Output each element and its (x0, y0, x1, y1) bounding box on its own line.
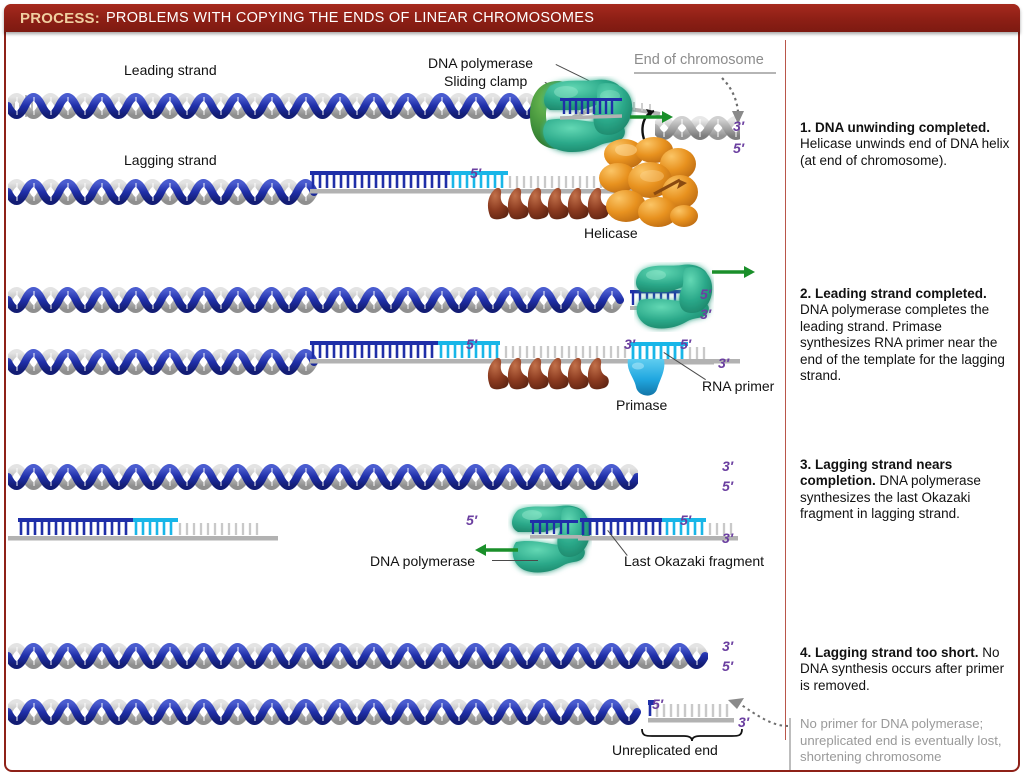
step-4-number: 4. (800, 645, 811, 660)
step2-lagging-helix (8, 340, 318, 384)
prime-s2-pol-5: 5′ (700, 286, 711, 302)
step-4-heading: Lagging strand too short. (815, 645, 979, 660)
step1-nascent-leading-duplex (560, 96, 622, 126)
label-helicase: Helicase (584, 225, 638, 241)
gray-note: No primer for DNA polymerase; unreplicat… (800, 716, 1012, 766)
label-leading-strand: Leading strand (124, 62, 217, 78)
step-1-text: 1. DNA unwinding completed. Helicase unw… (800, 120, 1015, 169)
process-figure: PROCESS: PROBLEMS WITH COPYING THE ENDS … (0, 0, 1024, 776)
step-4-text: 4. Lagging strand too short. No DNA synt… (800, 645, 1015, 694)
step-1-body: Helicase unwinds end of DNA helix (at en… (800, 136, 1009, 167)
step-2-heading: Leading strand completed. (815, 286, 987, 301)
prime-s4-bot-5: 5′ (652, 696, 663, 712)
prime-s1-top-3: 3′ (733, 118, 744, 134)
step-1-heading: DNA unwinding completed. (815, 120, 990, 135)
banner-title: PROBLEMS WITH COPYING THE ENDS OF LINEAR… (106, 10, 594, 26)
label-last-okazaki-fragment: Last Okazaki fragment (624, 553, 764, 569)
prime-s4-top-3: 3′ (722, 638, 733, 654)
leading-synthesis-arrow-1 (630, 110, 674, 129)
step-2-text: 2. Leading strand completed. DNA polymer… (800, 286, 1015, 385)
label-end-of-chromosome: End of chromosome (634, 52, 764, 68)
prime-s3-right-5: 5′ (680, 512, 691, 528)
prime-s2-primer-3: 3′ (624, 336, 635, 352)
leader-dna-polymerase-3 (492, 560, 538, 561)
prime-s1-top-5: 5′ (733, 140, 744, 156)
prime-s3-top-5: 5′ (722, 478, 733, 494)
step3-leading-helix (8, 455, 638, 499)
step2-leading-helix (8, 278, 628, 322)
prime-s3-right-3: 3′ (722, 530, 733, 546)
ssb-proteins-icon-2 (484, 352, 612, 392)
label-rna-primer: RNA primer (702, 378, 774, 394)
primase-icon (624, 357, 670, 401)
step1-leading-helix (8, 84, 538, 128)
leading-synthesis-arrow-2 (712, 265, 756, 284)
prime-s2-temp-3: 3′ (718, 355, 729, 371)
label-dna-polymerase-3: DNA polymerase (370, 553, 475, 569)
step-3-text: 3. Lagging strand nears completion. DNA … (800, 457, 1015, 523)
step-2-number: 2. (800, 286, 811, 301)
prime-s3-top-3: 3′ (722, 458, 733, 474)
figure-banner: PROCESS: PROBLEMS WITH COPYING THE ENDS … (4, 4, 1020, 32)
step4-bottom-helix (8, 690, 648, 734)
step-2-body: DNA polymerase completes the leading str… (800, 302, 1005, 383)
gray-note-pointer-icon (700, 694, 792, 735)
prime-s2-pol-3: 3′ (700, 306, 711, 322)
label-unreplicated-end: Unreplicated end (612, 742, 718, 758)
prime-s4-top-5: 5′ (722, 658, 733, 674)
label-lagging-strand: Lagging strand (124, 152, 217, 168)
panel-divider (785, 40, 786, 740)
helicase-icon (592, 136, 702, 230)
step3-last-okazaki-fragment (578, 515, 738, 545)
step1-lagging-helix (8, 170, 318, 214)
prime-s3-left-5: 5′ (466, 512, 477, 528)
prime-s2-primer-5: 5′ (680, 336, 691, 352)
banner-process-label: PROCESS: (20, 10, 100, 27)
prime-s2-lag-5: 5′ (466, 336, 477, 352)
prime-s1-lag-5: 5′ (470, 165, 481, 181)
label-dna-polymerase-1: DNA polymerase (428, 55, 533, 71)
label-primase: Primase (616, 397, 667, 413)
step-1-number: 1. (800, 120, 811, 135)
label-sliding-clamp: Sliding clamp (444, 73, 527, 89)
step3-nascent-duplex (530, 518, 582, 548)
step-3-number: 3. (800, 457, 811, 472)
step4-top-helix (8, 634, 708, 678)
end-of-chromosome-underline (634, 72, 776, 74)
step3-lagging-left-fragment (8, 515, 508, 545)
